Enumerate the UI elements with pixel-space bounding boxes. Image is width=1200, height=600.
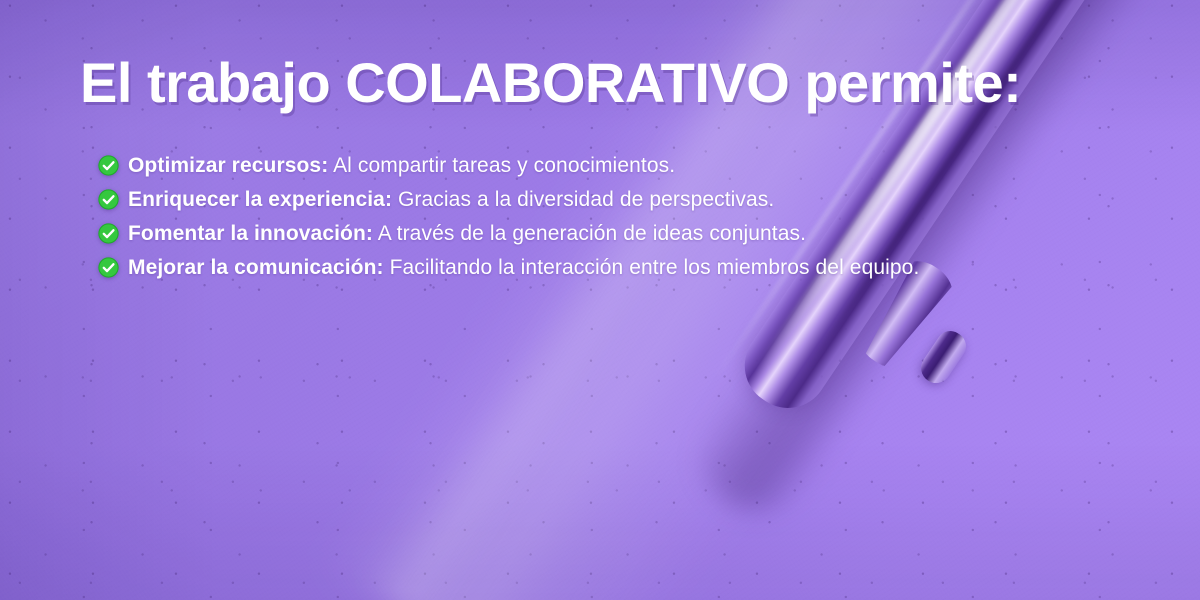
list-item-text: Fomentar la innovación: A través de la g… (128, 223, 806, 244)
list-item: Mejorar la comunicación: Facilitando la … (98, 250, 919, 284)
check-circle-icon (98, 155, 119, 176)
list-item: Optimizar recursos: Al compartir tareas … (98, 148, 919, 182)
list-item-rest: Al compartir tareas y conocimientos. (328, 154, 675, 177)
slide-canvas: El trabajo COLABORATIVO permite: Optimiz… (0, 0, 1200, 600)
list-item-lead: Fomentar la innovación: (128, 222, 373, 245)
list-item-lead: Mejorar la comunicación: (128, 256, 384, 279)
list-item-text: Optimizar recursos: Al compartir tareas … (128, 155, 675, 176)
benefits-list: Optimizar recursos: Al compartir tareas … (98, 148, 919, 284)
list-item-rest: Facilitando la interacción entre los mie… (384, 256, 920, 279)
check-circle-icon (98, 223, 119, 244)
slide-content: El trabajo COLABORATIVO permite: Optimiz… (0, 0, 1200, 600)
list-item-lead: Enriquecer la experiencia: (128, 188, 392, 211)
list-item-lead: Optimizar recursos: (128, 154, 328, 177)
check-circle-icon (98, 257, 119, 278)
slide-title: El trabajo COLABORATIVO permite: (80, 50, 1021, 115)
list-item-text: Enriquecer la experiencia: Gracias a la … (128, 189, 774, 210)
list-item-rest: Gracias a la diversidad de perspectivas. (392, 188, 774, 211)
check-circle-icon (98, 189, 119, 210)
list-item-text: Mejorar la comunicación: Facilitando la … (128, 257, 919, 278)
list-item-rest: A través de la generación de ideas conju… (373, 222, 806, 245)
list-item: Enriquecer la experiencia: Gracias a la … (98, 182, 919, 216)
list-item: Fomentar la innovación: A través de la g… (98, 216, 919, 250)
